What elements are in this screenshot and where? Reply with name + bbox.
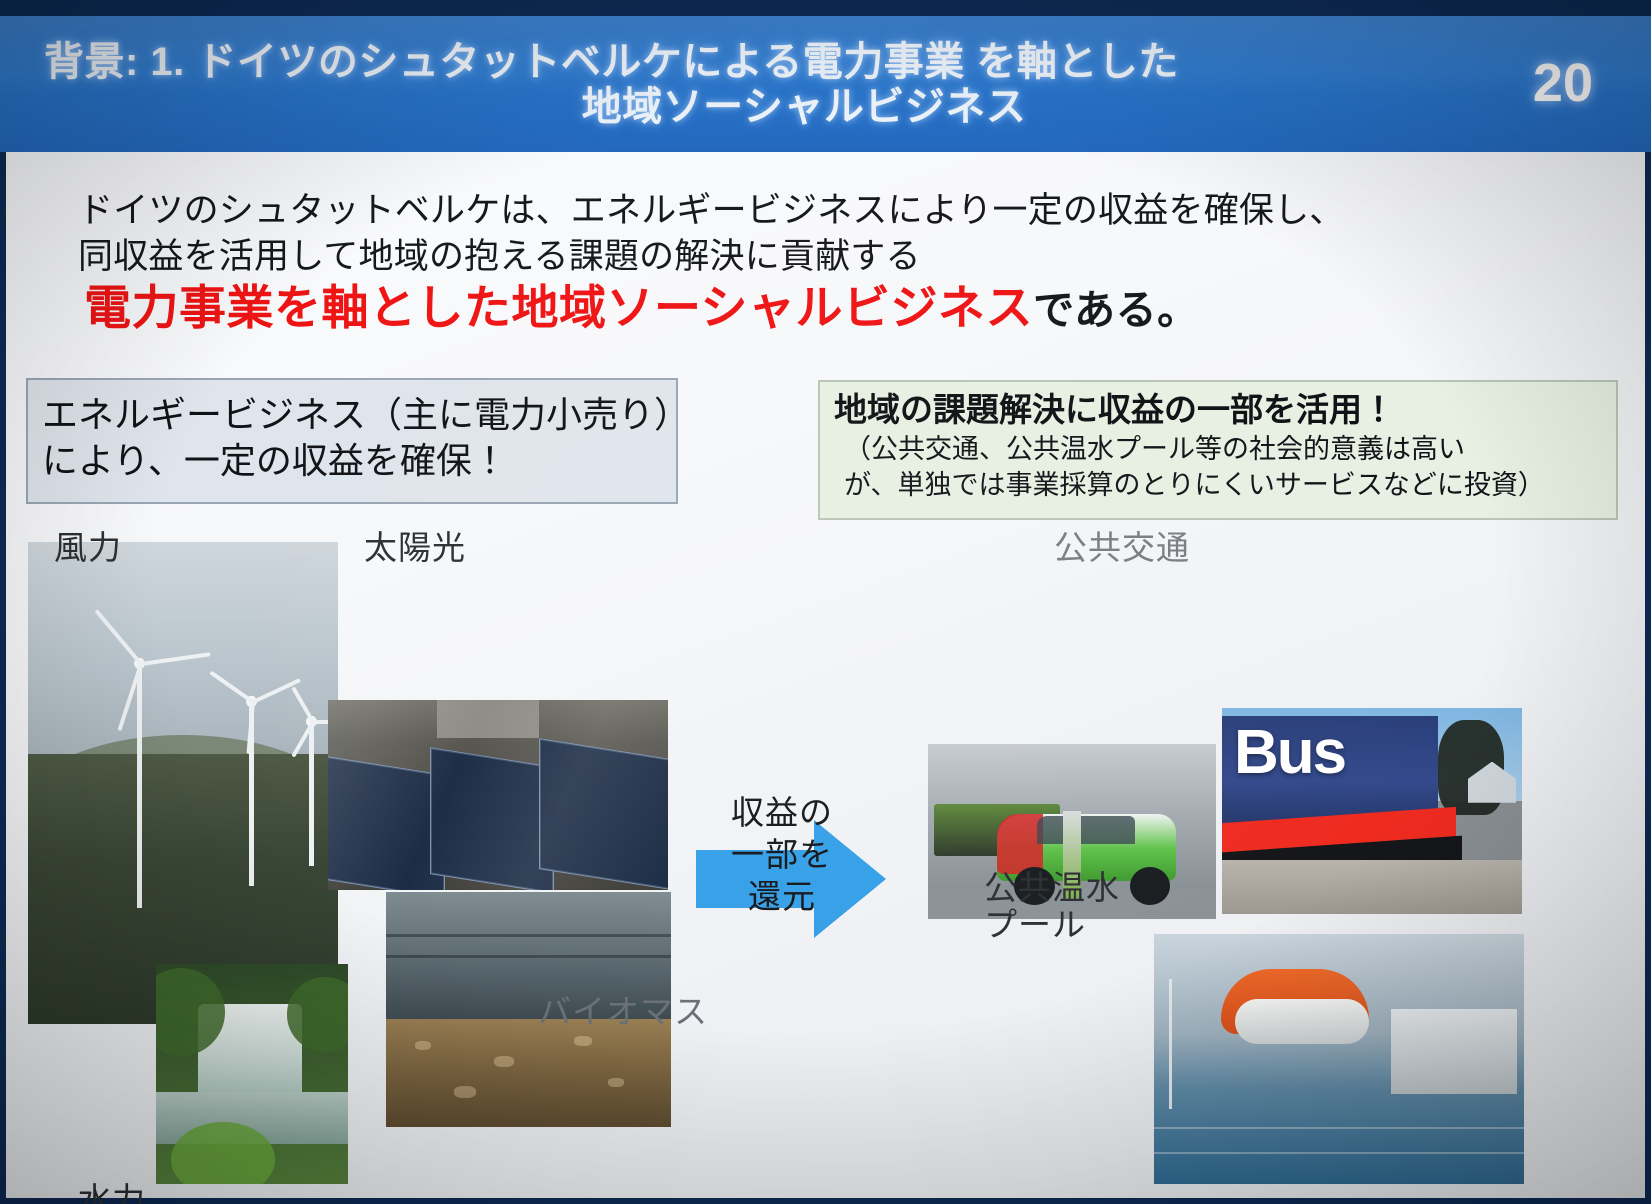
lead-line-1: ドイツのシュタットベルケは、エネルギービジネスにより一定の収益を確保し、	[78, 188, 1478, 234]
ev-car-front	[997, 814, 1043, 874]
ev-car-windows	[1037, 816, 1135, 844]
pool-building	[1391, 1009, 1517, 1094]
caption-solar: 太陽光	[364, 530, 466, 567]
pool-water-reflection	[1154, 1152, 1524, 1154]
lead-highlight-tail: である。	[1033, 287, 1199, 333]
caption-hydro: 水力	[78, 1182, 146, 1204]
photo-hydro-waterfall	[156, 964, 348, 1184]
callout-energy-business: エネルギービジネス（主に電力小売り）により、一定の収益を確保！	[26, 378, 678, 504]
arrow-label-line-3: 還元	[712, 876, 852, 918]
turbine-mast	[137, 658, 142, 908]
woodchip	[415, 1041, 431, 1050]
caption-public-transit: 公共交通	[1054, 530, 1190, 567]
photo-wind-turbines	[28, 542, 338, 1024]
woodchip	[574, 1036, 592, 1046]
callout-community-note: （公共交通、公共温水プール等の社会的意義は高い が、単独では事業採算のとりにくい…	[844, 432, 1634, 504]
biomass-beam	[386, 955, 671, 958]
arrow-label-line-2: 一部を	[712, 834, 852, 876]
page-number: 20	[1533, 52, 1593, 114]
lead-line-2: 同収益を活用して地域の抱える課題の解決に貢献する	[78, 234, 1478, 280]
caption-public-pool-line-2: プール	[984, 907, 1120, 944]
turbine-small	[220, 696, 282, 886]
turbine-large	[96, 658, 182, 908]
callout-community-note-line-1: （公共交通、公共温水プール等の社会的意義は高い	[844, 432, 1634, 468]
woodchip	[608, 1078, 624, 1087]
photo-public-heated-pool	[1154, 934, 1524, 1184]
lead-highlight: 電力事業を軸とした地域ソーシャルビジネスである。	[84, 280, 1504, 335]
biomass-beam	[386, 934, 671, 937]
photo-public-bus: Bus	[1222, 708, 1522, 914]
slide-canvas: 背景: 1. ドイツのシュタットベルケによる電力事業 を軸とした 地域ソーシャル…	[0, 0, 1651, 1204]
slide-body: ドイツのシュタットベルケは、エネルギービジネスにより一定の収益を確保し、 同収益…	[6, 152, 1645, 1198]
revenue-return-arrow-label: 収益の 一部を 還元	[712, 792, 852, 919]
lead-paragraph: ドイツのシュタットベルケは、エネルギービジネスにより一定の収益を確保し、 同収益…	[78, 188, 1478, 280]
slide-title-bar: 背景: 1. ドイツのシュタットベルケによる電力事業 を軸とした 地域ソーシャル…	[0, 16, 1651, 152]
arrow-label-line-1: 収益の	[712, 792, 852, 834]
caption-wind: 風力	[54, 530, 122, 567]
caption-public-pool: 公共温水 プール	[984, 870, 1120, 944]
ev-wheel	[1130, 867, 1170, 906]
title-line-2: 地域ソーシャルビジネス	[44, 85, 1444, 130]
turbine-mast	[309, 716, 314, 866]
bus-gravel-ground	[1222, 860, 1522, 914]
lead-highlight-red: 電力事業を軸とした地域ソーシャルビジネス	[84, 281, 1033, 334]
callout-community-headline: 地域の課題解決に収益の一部を活用！	[834, 390, 1614, 430]
caption-public-pool-line-1: 公共温水	[984, 870, 1120, 907]
page-title: 背景: 1. ドイツのシュタットベルケによる電力事業 を軸とした 地域ソーシャル…	[44, 40, 1444, 130]
biomass-woodchips	[386, 1019, 671, 1127]
pool-water	[1154, 1104, 1524, 1184]
pool-water-reflection	[1154, 1127, 1524, 1129]
callout-community-reinvestment: 地域の課題解決に収益の一部を活用！ （公共交通、公共温水プール等の社会的意義は高…	[818, 380, 1618, 520]
woodchip	[494, 1056, 514, 1067]
title-line-1: 背景: 1. ドイツのシュタットベルケによる電力事業 を軸とした	[44, 40, 1444, 85]
callout-community-note-line-2: が、単独では事業採算のとりにくいサービスなどに投資）	[844, 468, 1634, 504]
caption-biomass: バイオマス	[538, 994, 708, 1031]
solar-glare	[328, 700, 668, 890]
pool-waterslide-white	[1235, 999, 1368, 1044]
pool-handrail	[1169, 979, 1172, 1109]
bus-livery-text: Bus	[1234, 722, 1345, 784]
woodchip	[454, 1086, 476, 1098]
callout-energy-business-text: エネルギービジネス（主に電力小売り）により、一定の収益を確保！	[42, 392, 672, 484]
photo-solar-panels	[328, 700, 668, 890]
